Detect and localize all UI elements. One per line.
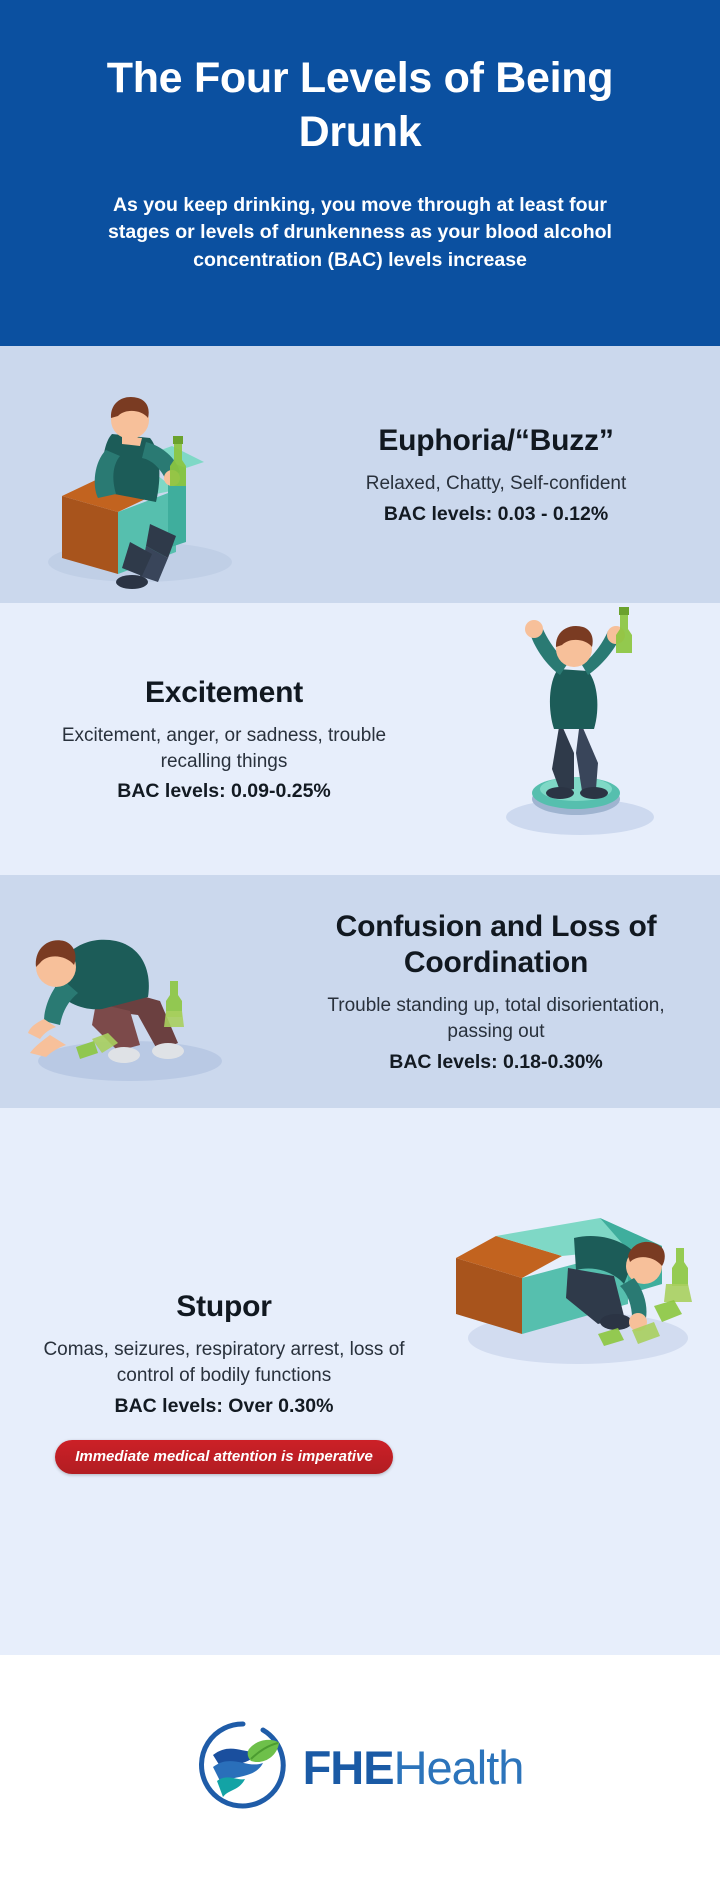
stage-description: Trouble standing up, total disorientatio… <box>298 993 694 1044</box>
stage-title: Euphoria/“Buzz” <box>298 423 694 459</box>
brand-wordmark: FHEHealth <box>303 1744 524 1791</box>
illustration-man-arms-raised <box>448 603 720 875</box>
stage-section-confusion: Confusion and Loss of Coordination Troub… <box>0 875 720 1108</box>
stage-bac-level: BAC levels: 0.03 - 0.12% <box>298 503 694 526</box>
stage-bac-level: BAC levels: 0.09-0.25% <box>26 780 422 803</box>
stage-bac-level: BAC levels: Over 0.30% <box>26 1395 422 1418</box>
stage-title: Excitement <box>26 675 422 711</box>
stage-description: Comas, seizures, respiratory arrest, los… <box>26 1337 422 1388</box>
stage-bac-level: BAC levels: 0.18-0.30% <box>298 1051 694 1074</box>
footer-logo-area: FHEHealth <box>0 1655 720 1879</box>
stage-section-stupor: Stupor Comas, seizures, respiratory arre… <box>0 1108 720 1655</box>
fhe-health-logo[interactable]: FHEHealth <box>197 1719 524 1816</box>
illustration-man-passed-out-on-couch <box>448 1108 720 1655</box>
brand-health: Health <box>394 1741 524 1794</box>
stage-section-euphoria: Euphoria/“Buzz” Relaxed, Chatty, Self-co… <box>0 346 720 603</box>
medical-alert-badge: Immediate medical attention is imperativ… <box>55 1440 393 1474</box>
infographic-root: The Four Levels of Being Drunk As you ke… <box>0 0 720 1879</box>
page-subtitle: As you keep drinking, you move through a… <box>52 192 668 275</box>
stage-title: Stupor <box>26 1289 422 1325</box>
page-title: The Four Levels of Being Drunk <box>52 52 668 160</box>
stage-description: Excitement, anger, or sadness, trouble r… <box>26 723 422 774</box>
illustration-man-on-hands-and-knees <box>0 875 272 1108</box>
stage-section-excitement: Excitement Excitement, anger, or sadness… <box>0 603 720 875</box>
brand-fhe: FHE <box>303 1741 394 1794</box>
illustration-man-on-armchair <box>0 346 272 603</box>
fhe-health-circle-wave-leaf-icon <box>197 1719 289 1816</box>
stage-description: Relaxed, Chatty, Self-confident <box>298 471 694 497</box>
header-banner: The Four Levels of Being Drunk As you ke… <box>0 0 720 346</box>
stage-title: Confusion and Loss of Coordination <box>298 909 694 981</box>
